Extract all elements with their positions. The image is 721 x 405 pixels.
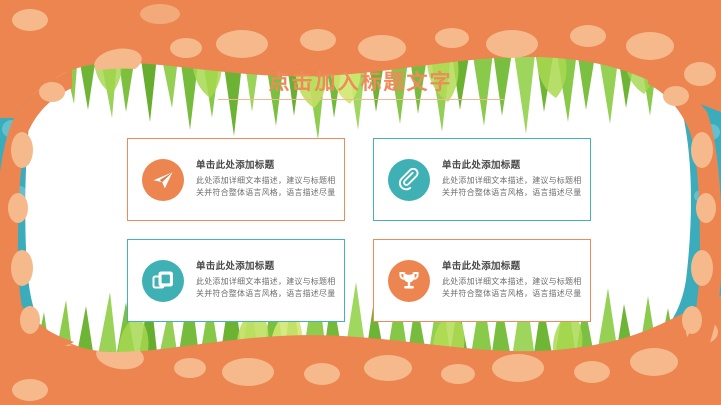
card-body: 此处添加详细文本描述，建议与标题相关并符合整体语言风格，语言描述尽量 bbox=[196, 276, 336, 300]
card-text: 单击此处添加标题 此处添加详细文本描述，建议与标题相关并符合整体语言风格，语言描… bbox=[196, 160, 344, 199]
card-text: 单击此处添加标题 此处添加详细文本描述，建议与标题相关并符合整体语言风格，语言描… bbox=[196, 261, 344, 300]
feature-card-4[interactable]: 单击此处添加标题 此处添加详细文本描述，建议与标题相关并符合整体语言风格，语言描… bbox=[373, 239, 591, 322]
feature-card-grid: 单击此处添加标题 此处添加详细文本描述，建议与标题相关并符合整体语言风格，语言描… bbox=[127, 138, 591, 322]
windows-copy-icon bbox=[142, 260, 184, 302]
card-heading: 单击此处添加标题 bbox=[442, 160, 582, 173]
card-heading: 单击此处添加标题 bbox=[196, 261, 336, 274]
card-body: 此处添加详细文本描述，建议与标题相关并符合整体语言风格，语言描述尽量 bbox=[442, 175, 582, 199]
slide-canvas: 点击加入标题文字 单击此处添加标题 此处添加详细文本描述，建议与标题相关并符合整… bbox=[0, 0, 721, 405]
title-divider bbox=[218, 99, 504, 100]
card-body: 此处添加详细文本描述，建议与标题相关并符合整体语言风格，语言描述尽量 bbox=[196, 175, 336, 199]
feature-card-3[interactable]: 单击此处添加标题 此处添加详细文本描述，建议与标题相关并符合整体语言风格，语言描… bbox=[127, 239, 345, 322]
card-heading: 单击此处添加标题 bbox=[196, 160, 336, 173]
paperclip-icon bbox=[388, 159, 430, 201]
card-heading: 单击此处添加标题 bbox=[442, 261, 582, 274]
feature-card-2[interactable]: 单击此处添加标题 此处添加详细文本描述，建议与标题相关并符合整体语言风格，语言描… bbox=[373, 138, 591, 221]
feature-card-1[interactable]: 单击此处添加标题 此处添加详细文本描述，建议与标题相关并符合整体语言风格，语言描… bbox=[127, 138, 345, 221]
page-title: 点击加入标题文字 bbox=[0, 66, 721, 96]
trophy-icon bbox=[388, 260, 430, 302]
paper-plane-icon bbox=[142, 159, 184, 201]
card-text: 单击此处添加标题 此处添加详细文本描述，建议与标题相关并符合整体语言风格，语言描… bbox=[442, 261, 590, 300]
card-text: 单击此处添加标题 此处添加详细文本描述，建议与标题相关并符合整体语言风格，语言描… bbox=[442, 160, 590, 199]
card-body: 此处添加详细文本描述，建议与标题相关并符合整体语言风格，语言描述尽量 bbox=[442, 276, 582, 300]
